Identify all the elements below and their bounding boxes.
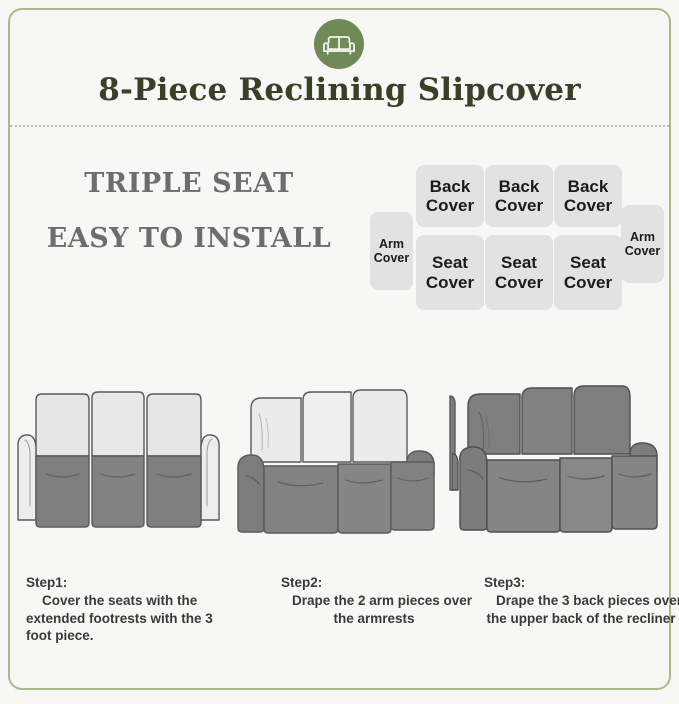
- step-2-label: Step2:: [281, 574, 481, 592]
- piece-label-line2: Cover: [564, 196, 612, 215]
- piece-tile-arm-cover-left: Arm Cover: [370, 212, 413, 290]
- sofa-illustration-arms-covered: [233, 378, 459, 548]
- step-3: Step3: Drape the 3 back pieces over the …: [452, 378, 678, 678]
- step-3-caption: Step3: Drape the 3 back pieces over the …: [484, 574, 679, 627]
- piece-tile-seat-cover-1: Seat Cover: [416, 235, 484, 310]
- piece-label-line1: Arm: [630, 230, 655, 244]
- step-2-body: Drape the 2 arm pieces over the armrests: [267, 592, 481, 628]
- piece-layout-diagram: Arm Cover Back Cover Back Cover Back Cov…: [368, 160, 658, 315]
- slogan-line-1: TRIPLE SEAT: [24, 170, 354, 197]
- piece-label-line1: Seat: [570, 253, 606, 272]
- piece-label-line1: Seat: [501, 253, 537, 272]
- piece-label-line2: Cover: [625, 244, 660, 258]
- piece-label-line2: Cover: [564, 273, 612, 292]
- page-title: 8-Piece Reclining Slipcover: [0, 72, 679, 108]
- steps-row: Step1: Cover the seats with the extended…: [0, 378, 679, 678]
- step-2-caption: Step2: Drape the 2 arm pieces over the a…: [281, 574, 481, 627]
- slogan-line-2: EASY TO INSTALL: [24, 225, 354, 252]
- piece-label-line2: Cover: [374, 251, 409, 265]
- step-1-caption: Step1: Cover the seats with the extended…: [26, 574, 236, 645]
- piece-label-line1: Back: [499, 177, 540, 196]
- piece-tile-back-cover-3: Back Cover: [554, 165, 622, 227]
- piece-label-line2: Cover: [495, 196, 543, 215]
- piece-label-line2: Cover: [426, 273, 474, 292]
- piece-label-line1: Back: [568, 177, 609, 196]
- piece-tile-seat-cover-3: Seat Cover: [554, 235, 622, 310]
- header-divider: [10, 125, 669, 127]
- step-1-label: Step1:: [26, 574, 236, 592]
- step-1: Step1: Cover the seats with the extended…: [8, 378, 234, 678]
- piece-label-line1: Back: [430, 177, 471, 196]
- infographic-poster: 8-Piece Reclining Slipcover TRIPLE SEAT …: [0, 0, 679, 704]
- step-3-body: Drape the 3 back pieces over the upper b…: [478, 592, 679, 628]
- piece-tile-arm-cover-right: Arm Cover: [621, 205, 664, 283]
- step-3-label: Step3:: [484, 574, 679, 592]
- piece-label-line2: Cover: [495, 273, 543, 292]
- piece-tile-seat-cover-2: Seat Cover: [485, 235, 553, 310]
- piece-label-line1: Arm: [379, 237, 404, 251]
- piece-tile-back-cover-2: Back Cover: [485, 165, 553, 227]
- poster-header: 8-Piece Reclining Slipcover: [0, 0, 679, 126]
- sofa-illustration-fully-covered: [452, 378, 678, 548]
- piece-label-line1: Seat: [432, 253, 468, 272]
- slogan-block: TRIPLE SEAT EASY TO INSTALL: [24, 170, 354, 252]
- step-1-body: Cover the seats with the extended footre…: [26, 592, 236, 645]
- sofa-illustration-seats-covered: [8, 378, 234, 548]
- step-2: Step2: Drape the 2 arm pieces over the a…: [233, 378, 459, 678]
- sofa-icon: [314, 19, 364, 69]
- piece-tile-back-cover-1: Back Cover: [416, 165, 484, 227]
- piece-label-line2: Cover: [426, 196, 474, 215]
